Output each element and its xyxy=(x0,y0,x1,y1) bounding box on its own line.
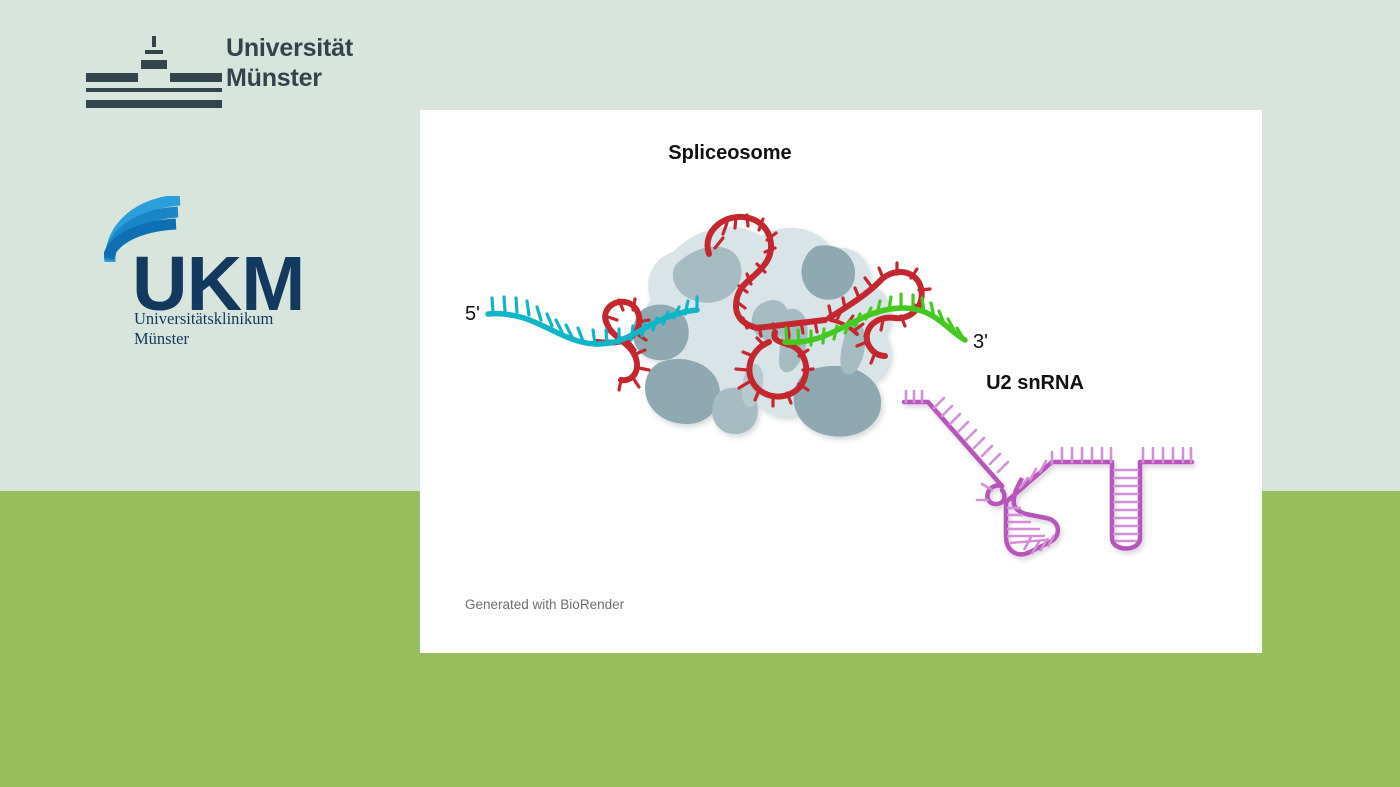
wwu-mark-left-bar xyxy=(86,73,138,82)
u2-snrna-illustration xyxy=(900,390,1200,580)
universitaet-muenster-logo: Universität Münster xyxy=(86,36,361,108)
wwu-mark-thick-rule xyxy=(86,100,222,108)
ukm-subtitle-line1: Universitätsklinikum xyxy=(134,309,273,329)
u2-stem2-rungs xyxy=(1113,470,1139,541)
wwu-mark-mid-bar xyxy=(141,60,167,69)
u2-stem-loop-2 xyxy=(1112,462,1140,549)
label-5-prime: 5' xyxy=(465,303,480,325)
spliceosome-title: Spliceosome xyxy=(420,142,1040,165)
wwu-mark-right-bar xyxy=(170,73,222,82)
label-3-prime: 3' xyxy=(973,331,988,353)
wwu-wordmark-line2: Münster xyxy=(226,63,353,93)
u2-strand-ticks xyxy=(906,390,1191,500)
ukm-subtitle: Universitätsklinikum Münster xyxy=(134,309,273,349)
u2-snrna-backbone xyxy=(904,402,1192,554)
wwu-mark-thin-rule xyxy=(86,88,222,92)
ukm-subtitle-line2: Münster xyxy=(134,329,273,349)
wwu-mark-tick xyxy=(152,36,156,47)
wwu-logo-wordmark: Universität Münster xyxy=(226,33,353,93)
ukm-logo: UKM Universitätsklinikum Münster xyxy=(104,196,304,346)
wwu-wordmark-line1: Universität xyxy=(226,33,353,63)
biorender-credit: Generated with BioRender xyxy=(465,597,624,612)
u2-backbone-diagonal xyxy=(904,402,1002,486)
wwu-logo-mark xyxy=(86,36,222,108)
wwu-mark-small-bar xyxy=(145,50,163,54)
figure-panel: Spliceosome U2 snRNA xyxy=(420,110,1262,653)
